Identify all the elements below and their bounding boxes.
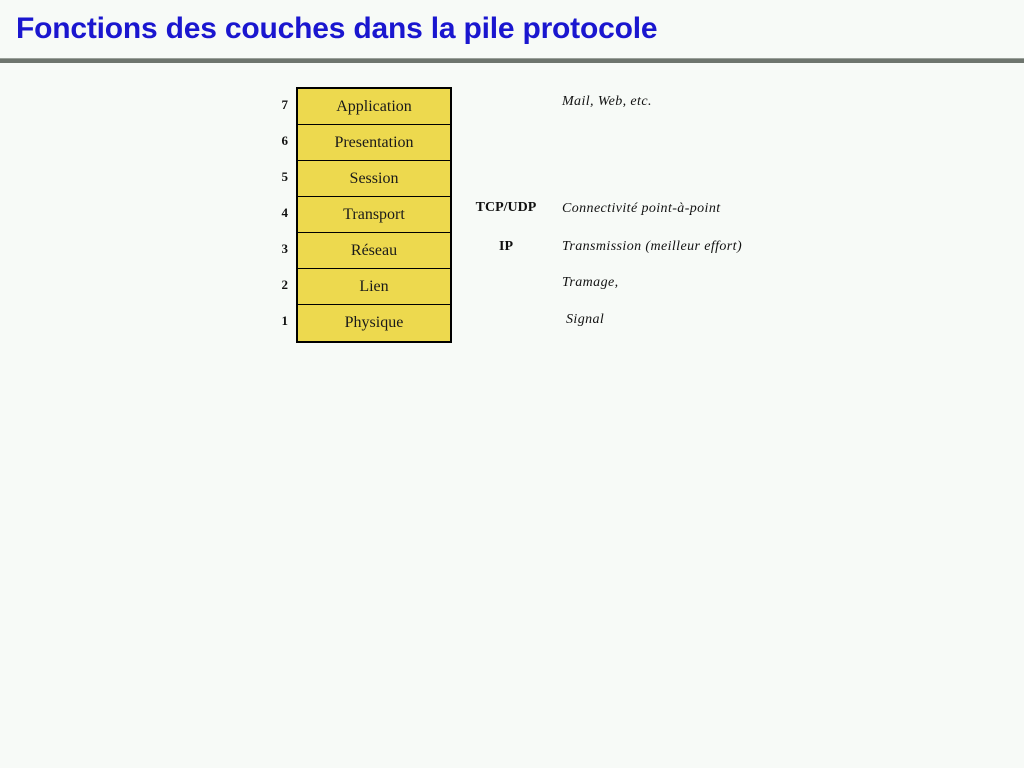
layer-number-7: 7 — [250, 87, 288, 123]
function-label-physical: Signal — [566, 312, 786, 328]
function-label-application: Mail, Web, etc. — [562, 94, 862, 110]
layer-label-link: Lien — [298, 269, 450, 305]
page-title: Fonctions des couches dans la pile proto… — [16, 12, 657, 46]
protocol-label-network: IP — [466, 239, 546, 255]
layer-label-transport: Transport — [298, 197, 450, 233]
layer-label-physical: Physique — [298, 305, 450, 341]
slide-header: Fonctions des couches dans la pile proto… — [0, 0, 1024, 62]
layer-box-transport: Transport — [298, 197, 450, 233]
function-label-link: Tramage, — [562, 275, 782, 291]
layer-box-session: Session — [298, 161, 450, 197]
layer-number-2: 2 — [250, 267, 288, 303]
layer-box-link: Lien — [298, 269, 450, 305]
layer-number-4: 4 — [250, 195, 288, 231]
layer-number-3: 3 — [250, 231, 288, 267]
layer-number-6: 6 — [250, 123, 288, 159]
layer-label-presentation: Presentation — [298, 125, 450, 161]
layer-label-session: Session — [298, 161, 450, 197]
layer-label-network: Réseau — [298, 233, 450, 269]
layer-number-5: 5 — [250, 159, 288, 195]
slide-body: 7 6 5 4 3 2 1 Application Presentation S… — [0, 62, 1024, 768]
function-label-network: Transmission (meilleur effort) — [562, 239, 882, 255]
layer-box-presentation: Presentation — [298, 125, 450, 161]
osi-layer-stack: Application Presentation Session Transpo… — [296, 87, 452, 343]
layer-box-network: Réseau — [298, 233, 450, 269]
layer-label-application: Application — [298, 89, 450, 125]
layer-number-column: 7 6 5 4 3 2 1 — [250, 87, 288, 339]
protocol-label-transport: TCP/UDP — [466, 200, 546, 216]
layer-box-application: Application — [298, 89, 450, 125]
layer-number-1: 1 — [250, 303, 288, 339]
layer-box-physical: Physique — [298, 305, 450, 341]
function-label-transport: Connectivité point-à-point — [562, 200, 742, 218]
